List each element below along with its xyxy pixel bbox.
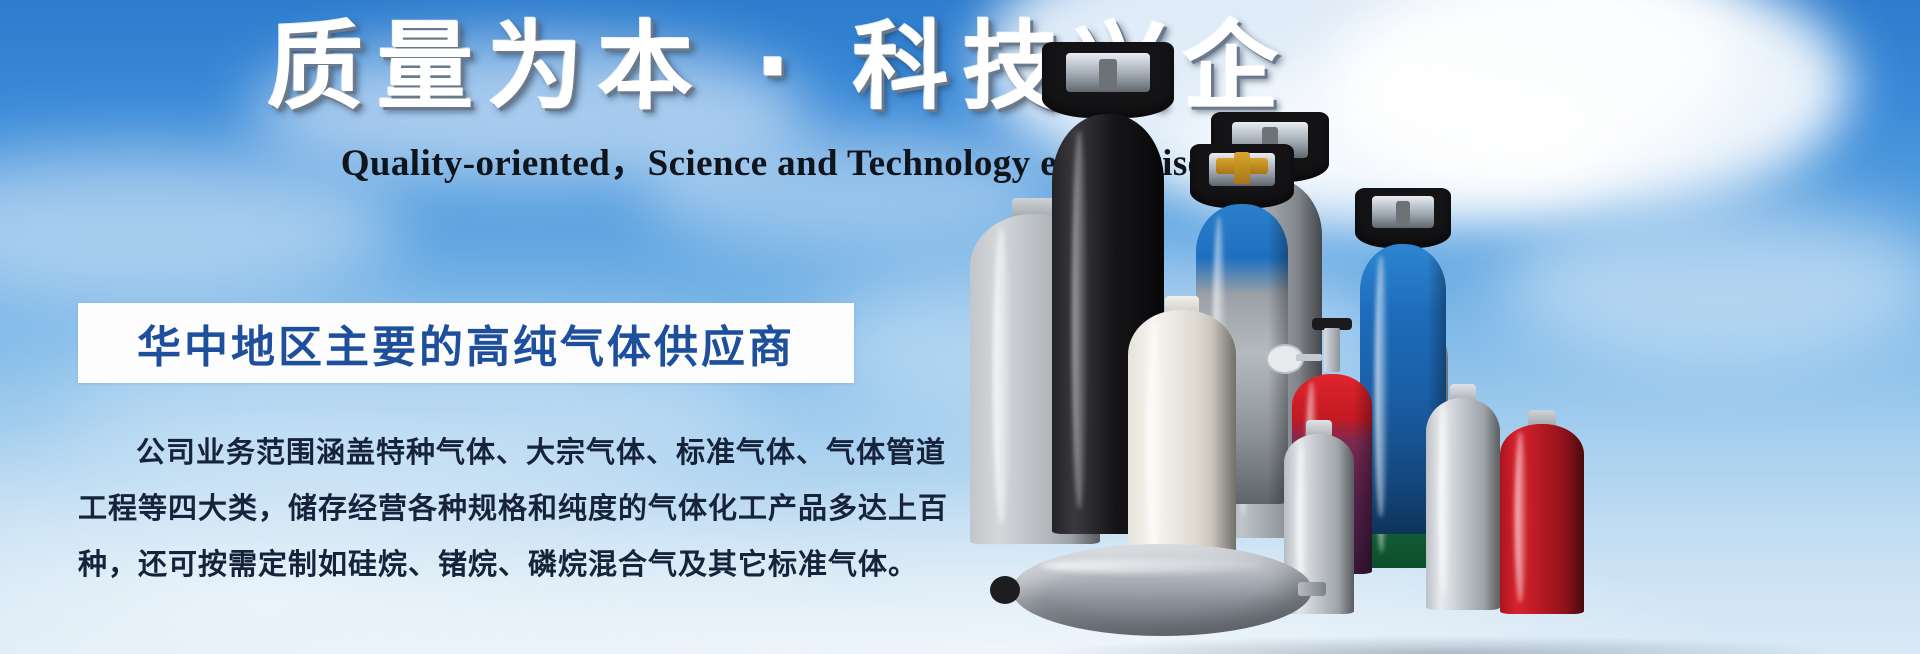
cylinder-highlight [993,227,1010,524]
paragraph-line: 工程等四大类，储存经营各种规格和纯度的气体化工产品多达上百 [78,486,868,530]
tagline-box: 华中地区主要的高纯气体供应商 [78,303,854,383]
valve-stem [1324,328,1340,372]
paragraph-line: 公司业务范围涵盖特种气体、大宗气体、标准气体、气体管道 [78,430,868,474]
cylinder-shading [1354,374,1372,574]
hero-banner: 质量为本 · 科技兴企 Quality-oriented，Science and… [0,0,1920,654]
tank-valve-icon [990,576,1020,604]
aluminium-cylinder [1426,398,1500,610]
gas-cylinder-group-image [960,0,1920,654]
tank-highlight [1042,559,1264,574]
cylinder-body [1500,424,1584,614]
cylinder-highlight [1147,321,1161,573]
cylinder-shading [1484,398,1500,610]
cylinder-cap-guard [1042,42,1174,118]
regulator-arm [1296,354,1322,361]
tank-nozzle [1298,582,1326,596]
paragraph-line: 种，还可按需定制如硅烷、锗烷、磷烷混合气及其它标准气体。 [78,542,868,586]
horizontal-tank [1012,544,1312,636]
cylinder-highlight [1515,432,1526,603]
cylinder-highlight [1439,406,1449,597]
cylinder-shading [1566,424,1584,614]
tagline-text: 华中地区主要的高纯气体供应商 [78,311,854,375]
brass-valve-stem [1234,152,1250,184]
cylinder-highlight [1375,256,1386,517]
cylinder-highlight [1072,131,1087,509]
cylinder-shading [1339,434,1354,614]
cylinder-body [1426,398,1500,610]
dark-red-cylinder [1500,424,1584,614]
description-paragraph: 公司业务范围涵盖特种气体、大宗气体、标准气体、气体管道 工程等四大类，储存经营各… [78,430,868,598]
cylinder-cap-guard [1355,188,1451,248]
